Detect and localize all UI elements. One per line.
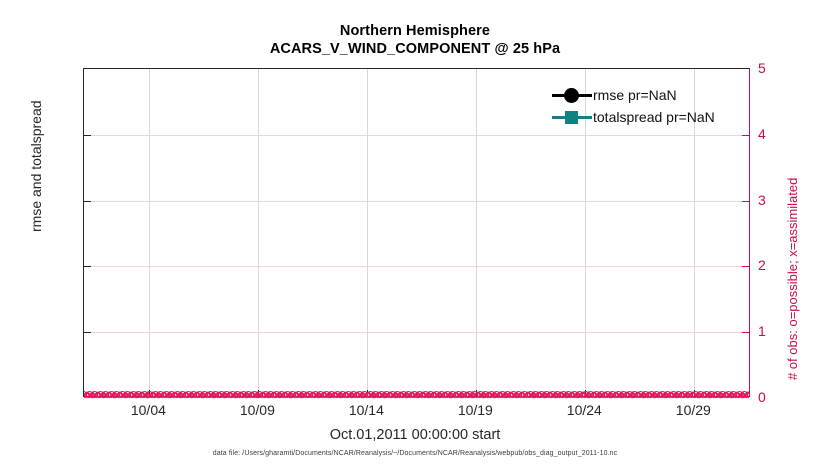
gridline-vertical: [258, 69, 259, 396]
y-tick-label-right: 5: [758, 60, 798, 76]
legend-item-totalspread[interactable]: totalspread pr=NaN: [552, 106, 738, 128]
x-tick-label: 10/09: [217, 402, 297, 418]
observation-marker-strip: [84, 389, 749, 402]
legend-label-totalspread: totalspread pr=NaN: [593, 109, 715, 125]
obs-possible-o-icon: [747, 391, 749, 398]
gridline-horizontal: [84, 266, 749, 267]
x-tick-label: 10/19: [435, 402, 515, 418]
chart-title: Northern Hemisphere ACARS_V_WIND_COMPONE…: [0, 22, 830, 58]
tick-left: [84, 332, 91, 333]
gridline-horizontal: [84, 332, 749, 333]
gridline-vertical: [476, 69, 477, 396]
tick-left: [84, 201, 91, 202]
y-tick-label-right: 4: [758, 126, 798, 142]
x-tick-label: 10/14: [326, 402, 406, 418]
x-tick-label: 10/29: [653, 402, 733, 418]
gridline-horizontal: [84, 201, 749, 202]
gridline-vertical: [367, 69, 368, 396]
x-axis-label: Oct.01,2011 00:00:00 start: [0, 427, 830, 443]
chart-page: Northern Hemisphere ACARS_V_WIND_COMPONE…: [0, 0, 830, 470]
gridline-horizontal: [84, 135, 749, 136]
y-axis-label-left: rmse and totalspread: [28, 100, 44, 232]
x-tick-label: 10/04: [108, 402, 188, 418]
title-line-region: Northern Hemisphere: [0, 22, 830, 40]
tick-right: [742, 332, 749, 333]
tick-right: [742, 135, 749, 136]
obs-marker: [747, 389, 750, 402]
legend-item-rmse[interactable]: rmse pr=NaN: [552, 84, 738, 106]
legend-marker-square-icon: [552, 107, 592, 127]
data-file-note: data file: /Users/gharamti/Documents/NCA…: [0, 450, 830, 457]
title-line-variable: ACARS_V_WIND_COMPONENT @ 25 hPa: [0, 40, 830, 58]
legend: rmse pr=NaN totalspread pr=NaN: [552, 84, 738, 128]
tick-left: [84, 135, 91, 136]
tick-right: [742, 201, 749, 202]
y-axis-label-right: # of obs: o=possible; x=assimilated: [785, 178, 800, 380]
legend-label-rmse: rmse pr=NaN: [593, 87, 677, 103]
y-tick-label-right: 0: [758, 389, 798, 405]
x-tick-label: 10/24: [544, 402, 624, 418]
gridline-vertical: [149, 69, 150, 396]
legend-marker-circle-icon: [552, 85, 592, 105]
tick-right: [742, 266, 749, 267]
tick-left: [84, 266, 91, 267]
